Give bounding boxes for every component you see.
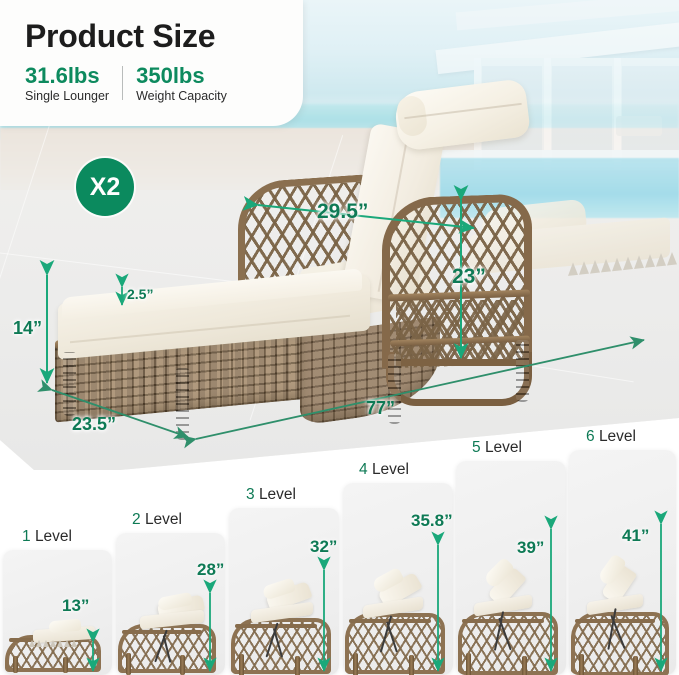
dim-label-cushion-thickness: 2.5” xyxy=(127,286,153,302)
level-height-4: 35.8” xyxy=(411,511,453,531)
level-word-6: Level xyxy=(599,428,636,445)
dim-label-depth: 23.5” xyxy=(72,414,116,435)
dim-label-seat-height: 14” xyxy=(13,318,42,339)
stat-value: 31.6lbs xyxy=(25,64,109,87)
level-title-3: 3 Level xyxy=(246,486,296,504)
level-3-dim-arrow xyxy=(229,508,339,675)
stat-weight: 31.6lbs Single Lounger xyxy=(25,64,109,103)
stat-capacity: 350lbs Weight Capacity xyxy=(136,64,227,103)
level-card-2 xyxy=(116,533,225,675)
level-height-3: 32” xyxy=(310,537,337,557)
level-number-1: 1 xyxy=(22,528,31,545)
level-height-1: 13” xyxy=(62,596,89,616)
level-5-dim-arrow xyxy=(456,461,566,675)
level-word-2: Level xyxy=(145,511,182,528)
stat-divider xyxy=(122,66,123,100)
stat-value: 350lbs xyxy=(136,64,227,87)
dim-label-length: 77” xyxy=(366,398,395,419)
level-6-dim-arrow xyxy=(569,450,676,675)
level-height-6: 41” xyxy=(622,526,649,546)
dim-label-seat-back-height: 23” xyxy=(452,265,486,289)
level-word-5: Level xyxy=(485,439,522,456)
level-title-6: 6 Level xyxy=(586,428,636,446)
page-title: Product Size xyxy=(25,18,215,55)
level-word-4: Level xyxy=(372,461,409,478)
level-word-3: Level xyxy=(259,486,296,503)
level-number-6: 6 xyxy=(586,428,595,445)
product-size-infographic: 29.5” 23” 2.5” 14” 23.5” 77” Product Siz… xyxy=(0,0,679,675)
stat-label: Weight Capacity xyxy=(136,89,227,103)
level-height-5: 39” xyxy=(517,538,544,558)
level-number-2: 2 xyxy=(132,511,141,528)
header-card: Product Size 31.6lbs Single Lounger 350l… xyxy=(0,0,303,126)
stat-label: Single Lounger xyxy=(25,89,109,103)
level-2-dim-arrow xyxy=(116,533,225,675)
level-card-3 xyxy=(229,508,339,675)
level-card-1 xyxy=(3,550,112,675)
level-word-1: Level xyxy=(35,528,72,545)
quantity-badge: X2 xyxy=(76,158,134,216)
level-number-4: 4 xyxy=(359,461,368,478)
level-card-5 xyxy=(456,461,566,675)
level-number-3: 3 xyxy=(246,486,255,503)
level-number-5: 5 xyxy=(472,439,481,456)
level-title-5: 5 Level xyxy=(472,439,522,457)
stats-row: 31.6lbs Single Lounger 350lbs Weight Cap… xyxy=(25,64,227,103)
dim-label-backrest-width: 29.5” xyxy=(317,200,368,224)
level-title-2: 2 Level xyxy=(132,511,182,529)
level-card-6 xyxy=(569,450,676,675)
level-1-dim-arrow xyxy=(3,550,112,675)
level-title-1: 1 Level xyxy=(22,528,72,546)
level-height-2: 28” xyxy=(197,560,224,580)
level-title-4: 4 Level xyxy=(359,461,409,479)
dim-line-length xyxy=(196,340,644,439)
